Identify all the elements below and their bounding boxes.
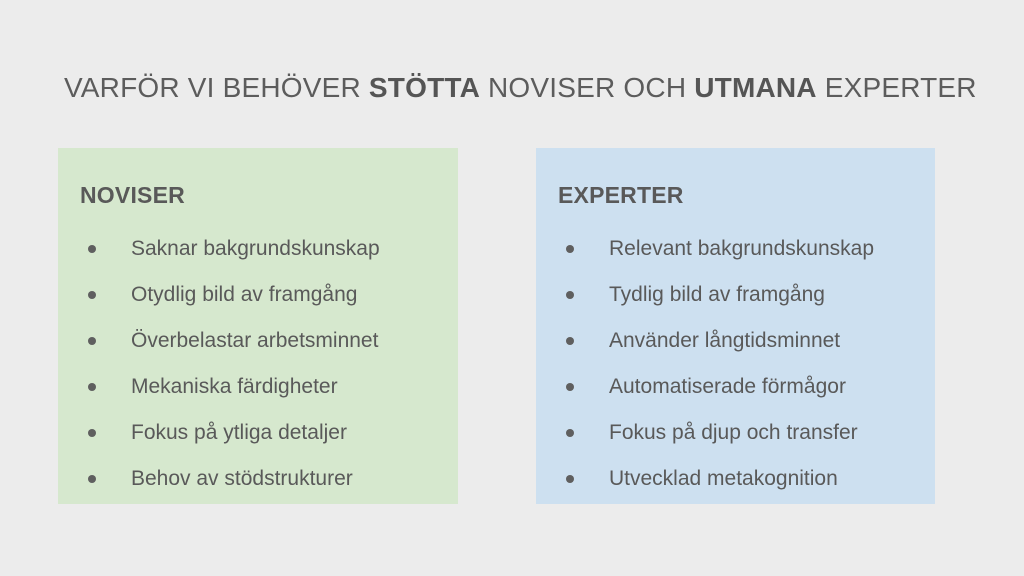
bullet-icon xyxy=(88,383,96,391)
list-item: Otydlig bild av framgång xyxy=(58,272,458,318)
bullet-icon xyxy=(566,429,574,437)
list-item: Relevant bakgrundskunskap xyxy=(536,226,935,272)
list-item: Utvecklad metakognition xyxy=(536,456,935,502)
list-item: Mekaniska färdigheter xyxy=(58,364,458,410)
title-segment-1: VARFÖR VI BEHÖVER xyxy=(64,72,369,103)
list-item-label: Relevant bakgrundskunskap xyxy=(609,226,874,272)
list-item: Överbelastar arbetsminnet xyxy=(58,318,458,364)
list-item: Automatiserade förmågor xyxy=(536,364,935,410)
panel-experts: EXPERTER Relevant bakgrundskunskap Tydli… xyxy=(536,148,935,504)
list-item-label: Utvecklad metakognition xyxy=(609,456,838,502)
bullet-icon xyxy=(566,475,574,483)
list-item-label: Fokus på djup och transfer xyxy=(609,410,858,456)
title-segment-2: NOVISER OCH xyxy=(480,72,694,103)
list-item: Saknar bakgrundskunskap xyxy=(58,226,458,272)
list-item-label: Behov av stödstrukturer xyxy=(131,456,353,502)
list-item-label: Saknar bakgrundskunskap xyxy=(131,226,380,272)
title-emphasis-stotta: STÖTTA xyxy=(369,72,480,103)
list-item: Fokus på djup och transfer xyxy=(536,410,935,456)
slide-canvas: VARFÖR VI BEHÖVER STÖTTA NOVISER OCH UTM… xyxy=(0,0,1024,576)
list-item-label: Tydlig bild av framgång xyxy=(609,272,825,318)
panel-novices-list: Saknar bakgrundskunskap Otydlig bild av … xyxy=(58,226,458,502)
bullet-icon xyxy=(566,337,574,345)
bullet-icon xyxy=(88,475,96,483)
list-item-label: Mekaniska färdigheter xyxy=(131,364,338,410)
list-item-label: Automatiserade förmågor xyxy=(609,364,846,410)
list-item: Fokus på ytliga detaljer xyxy=(58,410,458,456)
bullet-icon xyxy=(566,383,574,391)
panel-experts-list: Relevant bakgrundskunskap Tydlig bild av… xyxy=(536,226,935,502)
bullet-icon xyxy=(88,429,96,437)
list-item-label: Fokus på ytliga detaljer xyxy=(131,410,347,456)
title-emphasis-utmana: UTMANA xyxy=(694,72,817,103)
bullet-icon xyxy=(88,337,96,345)
bullet-icon xyxy=(88,291,96,299)
page-title: VARFÖR VI BEHÖVER STÖTTA NOVISER OCH UTM… xyxy=(64,70,964,106)
list-item-label: Överbelastar arbetsminnet xyxy=(131,318,378,364)
bullet-icon xyxy=(566,245,574,253)
panel-novices-heading: NOVISER xyxy=(80,182,185,209)
panel-experts-heading: EXPERTER xyxy=(558,182,684,209)
bullet-icon xyxy=(566,291,574,299)
list-item: Använder långtidsminnet xyxy=(536,318,935,364)
title-segment-3: EXPERTER xyxy=(817,72,977,103)
list-item-label: Använder långtidsminnet xyxy=(609,318,840,364)
list-item: Tydlig bild av framgång xyxy=(536,272,935,318)
panel-novices: NOVISER Saknar bakgrundskunskap Otydlig … xyxy=(58,148,458,504)
bullet-icon xyxy=(88,245,96,253)
list-item: Behov av stödstrukturer xyxy=(58,456,458,502)
list-item-label: Otydlig bild av framgång xyxy=(131,272,357,318)
